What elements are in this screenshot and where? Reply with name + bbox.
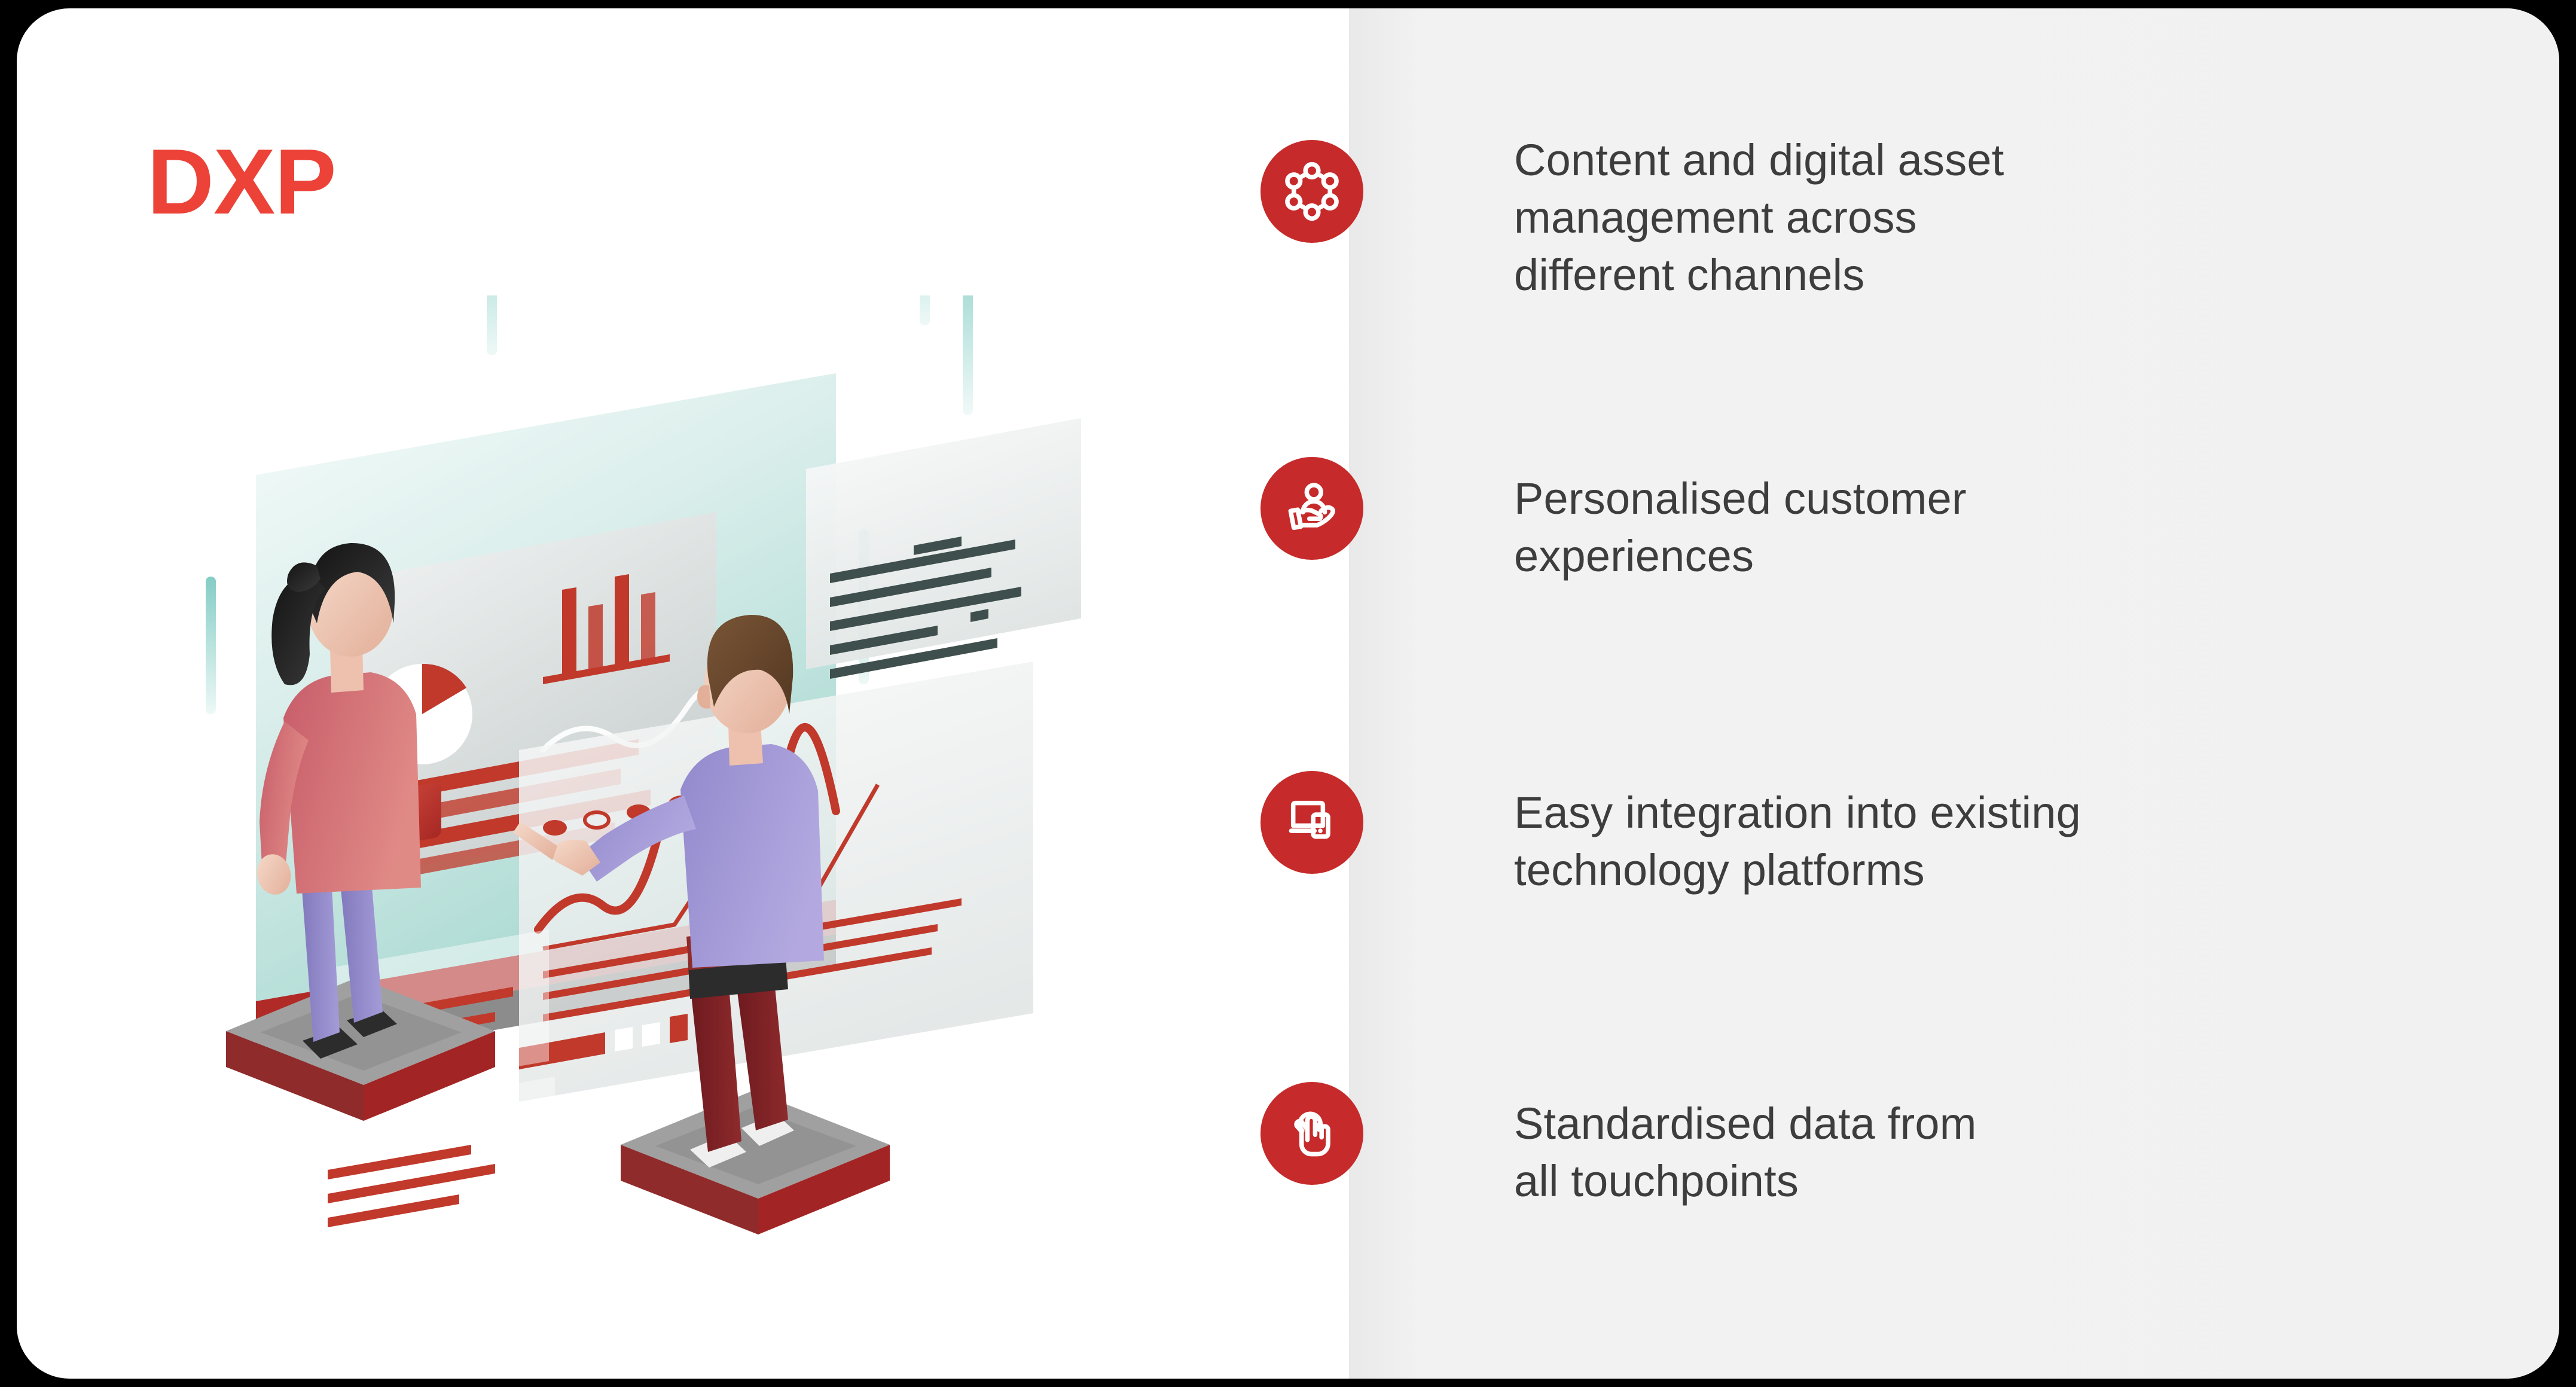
laptop-mobile-devices-icon xyxy=(1260,771,1363,874)
network-nodes-icon xyxy=(1260,140,1363,243)
dxp-info-card: DXP xyxy=(17,8,2559,1379)
hand-holding-person-icon xyxy=(1260,457,1363,560)
feature-item-standardised-data[interactable]: Standardised data from all touchpoints xyxy=(1260,1082,1977,1210)
panel-text-top xyxy=(806,418,1081,679)
tapping-hand-icon xyxy=(1260,1082,1363,1185)
page-title: DXP xyxy=(147,135,336,228)
feature-item-easy-integration[interactable]: Easy integration into existing technolog… xyxy=(1260,771,2081,899)
feature-text: Content and digital asset management acr… xyxy=(1514,132,2004,304)
isometric-dashboard-illustration xyxy=(160,295,1237,1264)
feature-text: Personalised customer experiences xyxy=(1514,470,1967,585)
feature-item-personalised-experiences[interactable]: Personalised customer experiences xyxy=(1260,457,1967,585)
feature-text: Standardised data from all touchpoints xyxy=(1514,1095,1977,1210)
feature-text: Easy integration into existing technolog… xyxy=(1514,784,2081,899)
feature-item-content-management[interactable]: Content and digital asset management acr… xyxy=(1260,140,2004,304)
